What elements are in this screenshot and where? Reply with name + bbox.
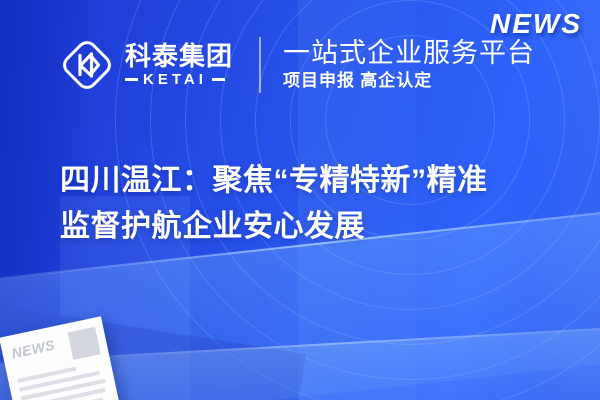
banner-header: 科泰集团 KETAI 一站式企业服务平台 项目申报 高企认定 NEWS <box>0 0 600 130</box>
brand-wordmark: 科泰集团 KETAI <box>125 43 233 86</box>
tagline-sub: 项目申报 高企认定 <box>283 71 535 91</box>
brand-tagline: 一站式企业服务平台 项目申报 高企认定 <box>283 38 535 91</box>
newspaper-thumbnail-placeholder <box>68 327 101 360</box>
brand-logo[interactable]: 科泰集团 KETAI <box>60 38 233 92</box>
page-title: 四川温江：聚焦“专精特新”精准 监督护航企业安心发展 <box>60 158 570 249</box>
brand-name-en: KETAI <box>143 72 207 87</box>
news-label: NEWS <box>490 8 582 40</box>
news-banner: 科泰集团 KETAI 一站式企业服务平台 项目申报 高企认定 NEWS 四川温江… <box>0 0 600 400</box>
brand-name-cn: 科泰集团 <box>125 43 233 70</box>
header-divider <box>259 37 261 93</box>
ketai-diamond-monogram-icon <box>60 38 114 92</box>
newspaper-card-title: NEWS <box>10 338 56 361</box>
tagline-main: 一站式企业服务平台 <box>283 38 535 69</box>
page-title-line-2: 监督护航企业安心发展 <box>60 204 570 250</box>
brand-name-en-row: KETAI <box>125 72 233 87</box>
dash-left-icon <box>125 78 138 81</box>
page-title-line-1: 四川温江：聚焦“专精特新”精准 <box>60 158 570 204</box>
newspaper-card-icon: NEWS <box>0 316 121 400</box>
dash-right-icon <box>212 78 225 81</box>
